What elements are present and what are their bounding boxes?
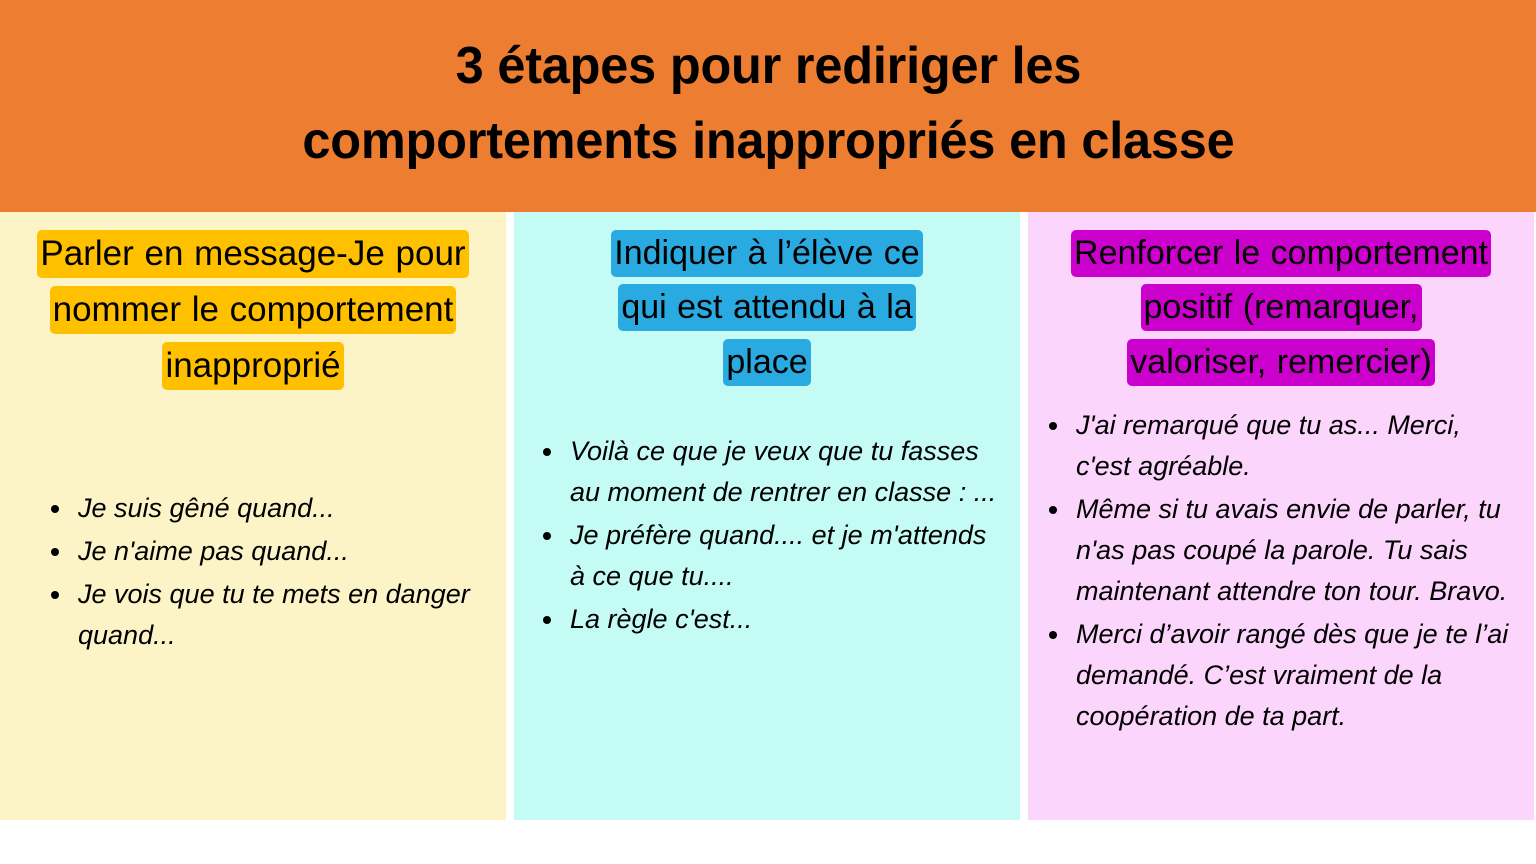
- step-3-title-line-3: valoriser, remercier): [1127, 339, 1434, 386]
- list-item: Merci d’avoir rangé dès que je te l’ai d…: [1072, 614, 1514, 737]
- step-3-title: Renforcer le comportement positif (remar…: [1036, 226, 1526, 389]
- step-column-1: Parler en message-Je pour nommer le comp…: [0, 212, 506, 820]
- header-banner: 3 étapes pour rediriger les comportement…: [0, 0, 1536, 212]
- step-2-title-line-2: qui est attendu à la: [618, 284, 915, 331]
- steps-container: Parler en message-Je pour nommer le comp…: [0, 212, 1536, 820]
- list-item: La règle c'est...: [566, 599, 998, 640]
- list-item: Je suis gêné quand...: [74, 488, 478, 529]
- step-column-2: Indiquer à l’élève ce qui est attendu à …: [514, 212, 1020, 820]
- step-2-title: Indiquer à l’élève ce qui est attendu à …: [522, 226, 1012, 389]
- step-2-title-line-3: place: [723, 339, 810, 386]
- list-item: Je préfère quand.... et je m'attends à c…: [566, 515, 998, 597]
- step-3-title-line-2: positif (remarquer,: [1141, 284, 1422, 331]
- step-1-title-line-1: Parler en message-Je pour: [37, 230, 468, 278]
- step-1-title-line-2: nommer le comportement: [50, 286, 457, 334]
- list-item: J'ai remarqué que tu as... Merci, c'est …: [1072, 405, 1514, 487]
- list-item: Je n'aime pas quand...: [74, 531, 478, 572]
- list-item: Même si tu avais envie de parler, tu n'a…: [1072, 489, 1514, 612]
- list-item: Voilà ce que je veux que tu fasses au mo…: [566, 431, 998, 513]
- page-title-line-2: comportements inappropriés en classe: [302, 104, 1234, 179]
- page-title-line-1: 3 étapes pour rediriger les: [455, 29, 1081, 104]
- step-1-bullet-list: Je suis gêné quand... Je n'aime pas quan…: [8, 488, 498, 656]
- step-1-title-line-3: inapproprié: [162, 342, 343, 390]
- step-1-title: Parler en message-Je pour nommer le comp…: [8, 226, 498, 394]
- step-column-3: Renforcer le comportement positif (remar…: [1028, 212, 1534, 820]
- step-3-bullet-list: J'ai remarqué que tu as... Merci, c'est …: [1036, 405, 1526, 737]
- step-3-title-line-1: Renforcer le comportement: [1071, 230, 1491, 277]
- list-item: Je vois que tu te mets en danger quand..…: [74, 574, 478, 656]
- step-2-title-line-1: Indiquer à l’élève ce: [611, 230, 922, 277]
- step-2-bullet-list: Voilà ce que je veux que tu fasses au mo…: [522, 431, 1012, 640]
- infographic-slide: 3 étapes pour rediriger les comportement…: [0, 0, 1536, 864]
